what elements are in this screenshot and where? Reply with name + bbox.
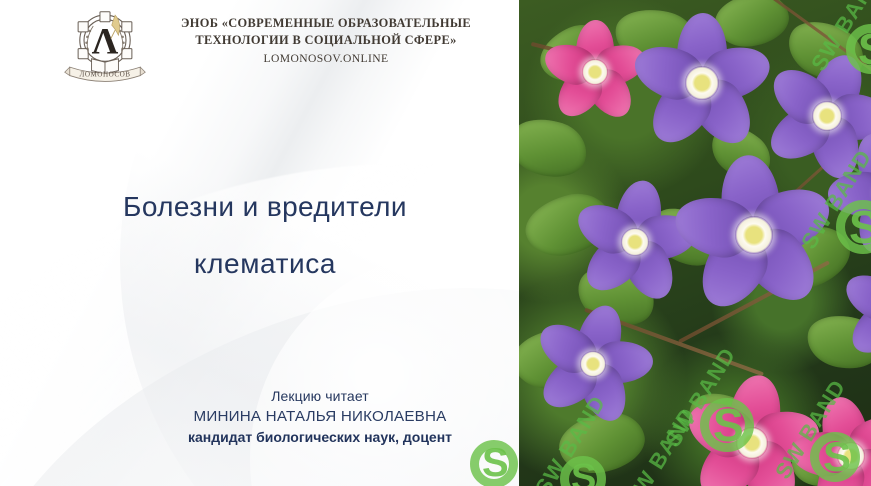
logo-banner-label: ЛОМОНОСОВ	[79, 70, 130, 78]
clematis-flower-purple	[825, 128, 871, 258]
clematis-flower-purple	[529, 300, 657, 428]
clematis-flower-pink	[787, 392, 871, 486]
slide-title-line-2: клематиса	[40, 235, 490, 292]
clematis-flower-purple	[627, 8, 777, 158]
presenter-name: МИНИНА НАТАЛЬЯ НИКОЛАЕВНА	[120, 406, 520, 427]
clematis-flower-purple	[837, 250, 871, 370]
clematis-flower-purple	[669, 150, 839, 320]
slide-title-line-1: Болезни и вредители	[40, 178, 490, 235]
organization-title: ЭНОБ «СОВРЕМЕННЫЕ ОБРАЗОВАТЕЛЬНЫЕ ТЕХНОЛ…	[136, 15, 516, 67]
presenter-block: Лекцию читает МИНИНА НАТАЛЬЯ НИКОЛАЕВНА …	[120, 386, 520, 448]
lomonosov-emblem-logo: Λ ЛОМОНОСОВ	[63, 5, 147, 89]
presentation-slide: Λ ЛОМОНОСОВ ЭНОБ «СОВРЕМЕННЫЕ ОБРАЗОВАТЕ…	[0, 0, 871, 486]
organization-title-line-2: ТЕХНОЛОГИИ В СОЦИАЛЬНОЙ СФЕРЕ»	[136, 32, 516, 49]
organization-title-line-1: ЭНОБ «СОВРЕМЕННЫЕ ОБРАЗОВАТЕЛЬНЫЕ	[136, 15, 516, 32]
slide-title: Болезни и вредители клематиса	[40, 178, 490, 292]
organization-website: LOMONOSOV.ONLINE	[136, 50, 516, 67]
presenter-lead-label: Лекцию читает	[120, 386, 520, 406]
slide-header: Λ ЛОМОНОСОВ ЭНОБ «СОВРЕМЕННЫЕ ОБРАЗОВАТЕ…	[0, 0, 520, 92]
clematis-flowers-photo	[519, 0, 871, 486]
presenter-rank: кандидат биологических наук, доцент	[120, 427, 520, 448]
